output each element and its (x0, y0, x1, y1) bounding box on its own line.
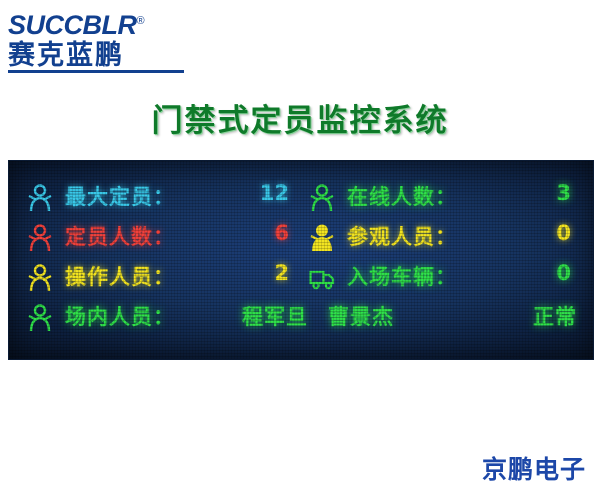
person-red-icon (27, 224, 53, 252)
led-row: 操作人员： 2 入场车辆： 0 (9, 259, 593, 297)
logo-latin-word: SUCCBLR (8, 10, 137, 40)
led-field-people-on-site: 场内人员： 程军旦曹景杰 正常 (27, 299, 579, 337)
led-value: 6 (274, 221, 289, 245)
person-name: 程军旦 (242, 305, 308, 329)
led-display-panel: 最大定员： 12 在线人数： 3 (8, 160, 594, 360)
logo-chinese-text: 赛克蓝鹏 (8, 40, 218, 72)
led-label: 场内人员： (65, 301, 175, 331)
person-cyan-icon (27, 184, 53, 212)
led-label: 最大定员： (65, 181, 175, 211)
led-value: 0 (556, 261, 571, 285)
led-value: 2 (274, 261, 289, 285)
person-name: 曹景杰 (328, 305, 394, 329)
led-value: 12 (260, 181, 289, 205)
person-green-icon (309, 184, 335, 212)
registered-trademark-icon: ® (137, 15, 145, 27)
led-label: 操作人员： (65, 261, 175, 291)
led-row: 定员人数： 6 参观人员： 0 (9, 219, 593, 257)
logo-underline-divider (8, 70, 184, 73)
led-field-quota-count: 定员人数： 6 (27, 219, 297, 257)
led-value: 3 (556, 181, 571, 205)
led-row: 最大定员： 12 在线人数： 3 (9, 179, 593, 217)
led-label: 定员人数： (65, 221, 175, 251)
person-yellow-icon (27, 264, 53, 292)
led-field-visitor-count: 参观人员： 0 (309, 219, 579, 257)
led-label: 参观人员： (347, 221, 457, 251)
person-green-icon (27, 304, 53, 332)
led-field-online-count: 在线人数： 3 (309, 179, 579, 217)
led-label: 在线人数： (347, 181, 457, 211)
person-yellow-icon (309, 224, 335, 252)
logo-latin-text: SUCCBLR® (8, 6, 218, 40)
status-badge: 正常 (533, 301, 577, 331)
people-name-list: 程军旦曹景杰 (242, 301, 414, 331)
led-field-vehicles-entered: 入场车辆： 0 (309, 259, 579, 297)
led-field-operator-count: 操作人员： 2 (27, 259, 297, 297)
led-field-max-capacity: 最大定员： 12 (27, 179, 297, 217)
footer-brand-text: 京鹏电子 (482, 450, 586, 486)
company-logo: SUCCBLR® 赛克蓝鹏 (8, 6, 218, 72)
led-value: 0 (556, 221, 571, 245)
led-label: 入场车辆： (347, 261, 457, 291)
page-title: 门禁式定员监控系统 (0, 95, 600, 140)
truck-green-icon (309, 264, 335, 292)
